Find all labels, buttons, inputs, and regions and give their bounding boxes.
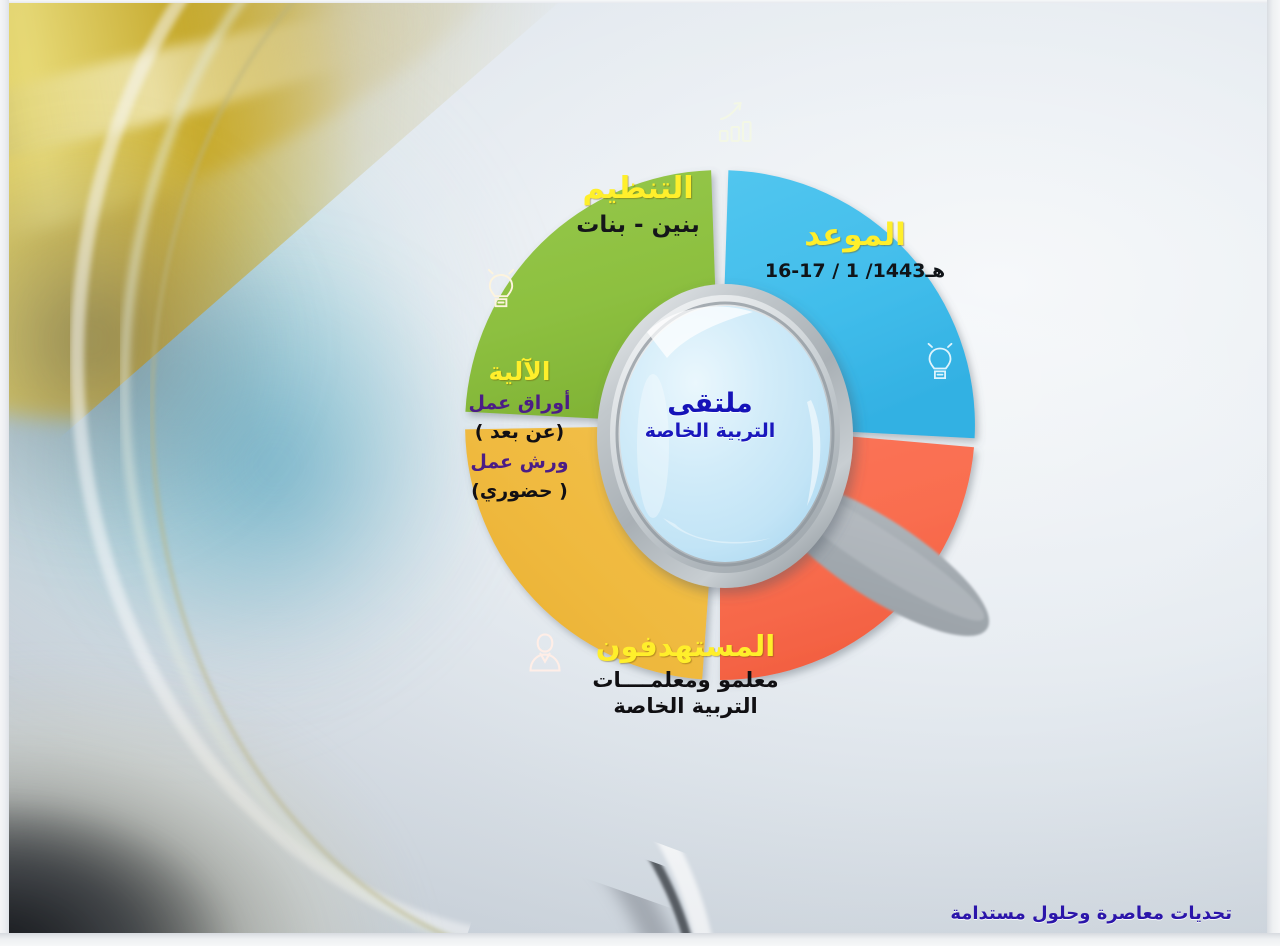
slide-footer-tagline: تحديات معاصرة وحلول مستدامة bbox=[950, 903, 1232, 924]
magnifier-highlight-left bbox=[637, 374, 669, 518]
frame-edge-right bbox=[1267, 0, 1280, 946]
magnifier-graphic bbox=[575, 250, 1045, 680]
frame-edge-left bbox=[0, 0, 9, 946]
presentation-slide: التنظيم بنين - بنات الموعد 16-17 / 1 /14… bbox=[0, 0, 1280, 946]
frame-edge-top bbox=[0, 0, 1280, 3]
frame-edge-bottom bbox=[0, 933, 1280, 946]
